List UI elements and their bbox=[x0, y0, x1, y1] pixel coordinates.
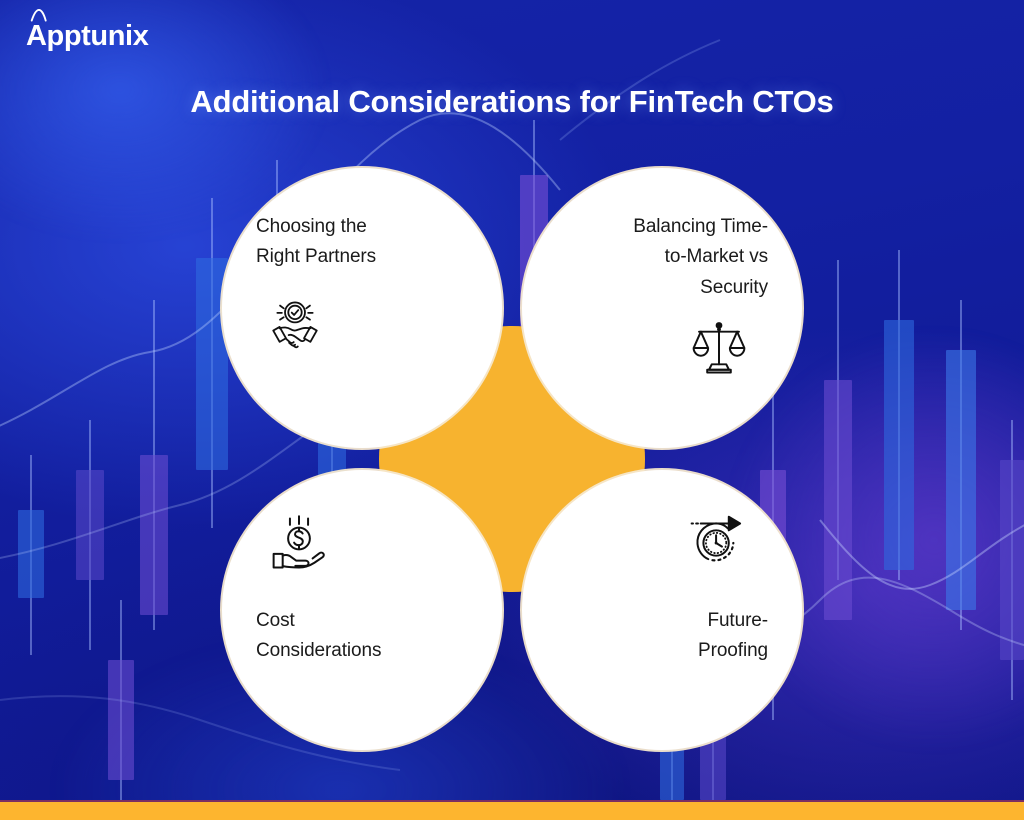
lobe-future-proofing[interactable]: Future- Proofing bbox=[522, 470, 802, 750]
clock-arrow-icon bbox=[688, 514, 746, 572]
balance-scales-icon bbox=[690, 319, 748, 377]
footer-accent-band bbox=[0, 800, 1024, 820]
lobe-choosing-the-right-partners[interactable]: Choosing the Right Partners bbox=[222, 168, 502, 448]
petal-diagram: Choosing the Right Partners bbox=[222, 168, 802, 750]
handshake-check-icon bbox=[266, 297, 324, 355]
hand-coin-icon bbox=[270, 514, 328, 572]
infographic-canvas: Apptunix Additional Considerations for F… bbox=[0, 0, 1024, 820]
lobe-label-bottom-right: Future- Proofing bbox=[698, 606, 768, 667]
lobe-cost-considerations[interactable]: Cost Considerations bbox=[222, 470, 502, 750]
caret-icon bbox=[30, 9, 47, 22]
lobe-balancing-time-to-market-vs-security[interactable]: Balancing Time- to-Market vs Security bbox=[522, 168, 802, 448]
brand-logo[interactable]: Apptunix bbox=[26, 22, 148, 51]
lobe-label-bottom-left: Cost Considerations bbox=[256, 606, 381, 667]
page-title: Additional Considerations for FinTech CT… bbox=[0, 84, 1024, 120]
lobe-label-top-right: Balancing Time- to-Market vs Security bbox=[633, 212, 768, 303]
lobe-label-top-left: Choosing the Right Partners bbox=[256, 212, 376, 273]
brand-logo-text: Apptunix bbox=[26, 22, 148, 51]
